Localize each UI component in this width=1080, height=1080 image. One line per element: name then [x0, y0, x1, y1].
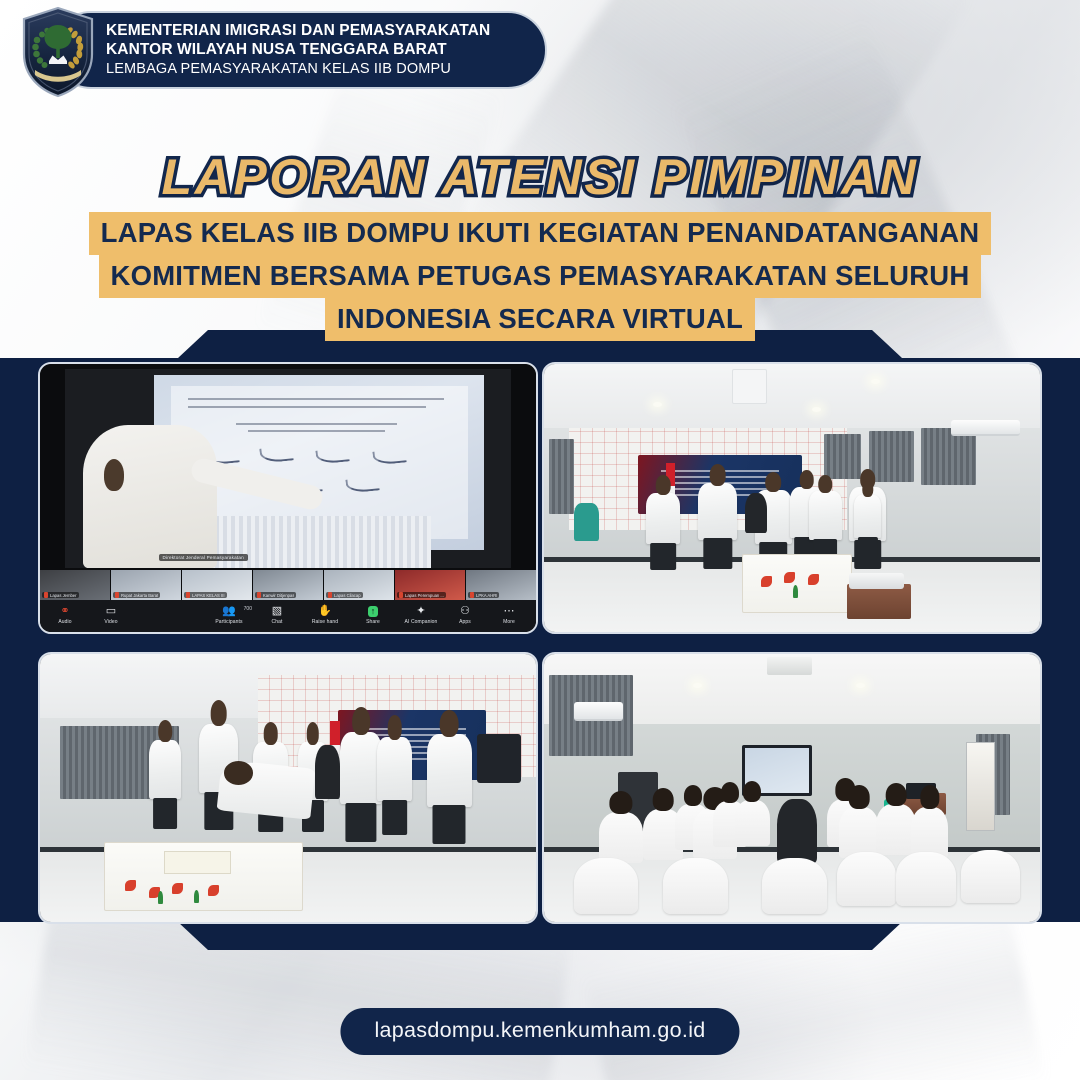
- covered-chair: [837, 852, 897, 906]
- officer-figure: [427, 734, 472, 806]
- zoom-participants-button[interactable]: 👥 700 Participants: [212, 606, 246, 625]
- photo-gallery-grid: Direktorat Jenderal Pemasyarakatan Lapas…: [38, 362, 1042, 924]
- covered-chair: [574, 858, 638, 914]
- toolbar-label: More: [503, 619, 515, 625]
- zoom-ai-companion-button[interactable]: ✦ AI Companion: [404, 606, 438, 625]
- hall-scene: [544, 364, 1040, 632]
- covered-chair: [663, 858, 727, 914]
- header-banner: KEMENTERIAN IMIGRASI DAN PEMASYARAKATAN …: [52, 11, 547, 89]
- zoom-active-speaker-stage: Direktorat Jenderal Pemasyarakatan: [65, 369, 511, 567]
- toolbar-label: Video: [104, 619, 117, 625]
- more-dots-icon: ⋯: [504, 606, 515, 617]
- mic-icon: [257, 592, 261, 598]
- officer-figure: [377, 737, 412, 801]
- mic-icon: [399, 592, 403, 598]
- zoom-chat-button[interactable]: ▧ Chat: [260, 606, 294, 625]
- mic-icon: [44, 592, 48, 598]
- covered-chair: [896, 852, 956, 906]
- female-officer-hijab: [315, 745, 340, 799]
- poster-header: KEMENTERIAN IMIGRASI DAN PEMASYARAKATAN …: [0, 0, 1080, 104]
- zoom-more-button[interactable]: ⋯ More: [492, 606, 526, 625]
- photo-audience-projector[interactable]: [542, 652, 1042, 924]
- window-curtain: [869, 431, 914, 482]
- poster-main-title: LAPORAN ATENSI PIMPINAN: [0, 148, 1080, 206]
- camera-icon: ▭: [106, 606, 116, 617]
- apps-icon: ⚇: [460, 606, 470, 617]
- zoom-application-window: Direktorat Jenderal Pemasyarakatan Lapas…: [40, 364, 536, 632]
- raise-hand-icon: ✋: [318, 606, 332, 617]
- doorway: [966, 742, 996, 830]
- share-screen-icon: ↑: [368, 606, 379, 617]
- participant-count: 700: [244, 606, 252, 612]
- window-curtain: [549, 439, 574, 514]
- decorated-table: [742, 554, 851, 613]
- officer-figure: [698, 483, 738, 539]
- director-general-signing: [83, 425, 217, 568]
- mic-icon: [115, 592, 119, 598]
- air-conditioner: [951, 420, 1020, 436]
- female-officer-hijab: [745, 493, 767, 533]
- participant-name: Lapas Perempuan ...: [405, 593, 444, 598]
- ceiling-light: [812, 407, 821, 412]
- toolbar-label: Audio: [58, 619, 71, 625]
- officer-figure: [340, 732, 382, 804]
- photo-officers-standing[interactable]: [542, 362, 1042, 634]
- participant-name: LAPAS KELAS III: [192, 593, 225, 598]
- attendee-figure: [876, 804, 916, 855]
- mic-icon: [470, 592, 474, 598]
- ai-sparkle-icon: ✦: [416, 606, 425, 617]
- subtitle-line-2: KOMITMEN BERSAMA PETUGAS PEMASYARAKATAN …: [99, 255, 982, 298]
- photo-zoom-meeting[interactable]: Direktorat Jenderal Pemasyarakatan Lapas…: [38, 362, 538, 634]
- officer-figure: [646, 493, 681, 544]
- attendee-figure: [599, 812, 644, 863]
- attendee-figure: [839, 807, 879, 858]
- projector: [849, 573, 904, 589]
- attendee-figure: [911, 807, 948, 858]
- participant-name: LPKA AHRI: [476, 593, 497, 598]
- microphone-muted-icon: ⚭: [60, 606, 69, 617]
- participant-name: Kanwir Ditjenpas: [263, 593, 294, 598]
- ceiling-projector: [767, 657, 812, 676]
- attendee-figure: [735, 800, 770, 846]
- covered-chair: [762, 858, 826, 914]
- zoom-toolbar[interactable]: ⚭ Audio ▭ Video 👥 700 Participants ▧: [40, 600, 536, 632]
- website-url: lapasdompu.kemenkumham.go.id: [374, 1018, 705, 1042]
- mic-icon: [328, 592, 332, 598]
- poster-subtitle: LAPAS KELAS IIB DOMPU IKUTI KEGIATAN PEN…: [0, 212, 1080, 341]
- institution-name: LEMBAGA PEMASYARAKATAN KELAS IIB DOMPU: [106, 60, 490, 79]
- regional-office-name: KANTOR WILAYAH NUSA TENGGARA BARAT: [106, 40, 490, 59]
- decorated-signing-table: [104, 842, 302, 912]
- speaker-name-label: Direktorat Jenderal Pemasyarakatan: [159, 554, 248, 561]
- participant-thumbnail[interactable]: Lapas Jember: [40, 570, 110, 599]
- ministry-name: KEMENTERIAN IMIGRASI DAN PEMASYARAKATAN: [106, 21, 490, 40]
- covered-chair: [961, 850, 1021, 904]
- signing-scene: [40, 654, 536, 922]
- audience-scene: [544, 654, 1040, 922]
- female-attendee-hijab: [777, 799, 817, 863]
- zoom-participant-thumbnails[interactable]: Lapas Jember Rupat Jakarta Barat LAPAS K…: [40, 570, 536, 599]
- website-footer-pill[interactable]: lapasdompu.kemenkumham.go.id: [340, 1008, 739, 1055]
- participant-name: Lapas Cilacap: [334, 593, 361, 598]
- zoom-video-button[interactable]: ▭ Video: [94, 606, 128, 625]
- photo-signing-commitment[interactable]: [38, 652, 538, 924]
- chat-icon: ▧: [272, 606, 282, 617]
- ceiling-fixture: [732, 369, 767, 404]
- window-curtain: [824, 434, 861, 480]
- participant-thumbnail[interactable]: LPKA AHRI: [466, 570, 536, 599]
- zoom-apps-button[interactable]: ⚇ Apps: [448, 606, 482, 625]
- zoom-raise-hand-button[interactable]: ✋ Raise hand: [308, 606, 342, 625]
- participant-thumbnail[interactable]: Lapas Perempuan ...: [395, 570, 465, 599]
- participant-name: Rupat Jakarta Barat: [121, 593, 158, 598]
- ditjenpas-emblem-board: [477, 734, 522, 782]
- officer-figure: [809, 491, 841, 539]
- header-text-block: KEMENTERIAN IMIGRASI DAN PEMASYARAKATAN …: [106, 21, 490, 79]
- ceiling-light: [871, 379, 880, 384]
- staff-member-green: [574, 503, 599, 541]
- window-curtain: [921, 428, 976, 484]
- participant-name: Lapas Jember: [50, 593, 77, 598]
- toolbar-label: Raise hand: [312, 619, 338, 625]
- poster-canvas: KEMENTERIAN IMIGRASI DAN PEMASYARAKATAN …: [0, 0, 1080, 1080]
- officer-figure: [854, 495, 881, 538]
- toolbar-label: Share: [366, 619, 380, 625]
- air-conditioner: [574, 702, 624, 721]
- subtitle-line-3: INDONESIA SECARA VIRTUAL: [325, 298, 755, 341]
- toolbar-label: AI Companion: [405, 619, 438, 625]
- participants-icon: 👥: [222, 606, 236, 617]
- toolbar-label: Participants: [215, 619, 242, 625]
- ceiling-light: [653, 402, 662, 407]
- officer-figure: [149, 740, 181, 799]
- participant-thumbnail[interactable]: Rupat Jakarta Barat: [111, 570, 181, 599]
- signing-document: [164, 851, 231, 874]
- kemenimipas-shield-logo: [18, 6, 98, 98]
- participant-thumbnail[interactable]: Kanwir Ditjenpas: [253, 570, 323, 599]
- participant-thumbnail[interactable]: Lapas Cilacap: [324, 570, 394, 599]
- person-head: [104, 459, 124, 490]
- zoom-share-button[interactable]: ↑ Share: [356, 606, 390, 625]
- toolbar-label: Apps: [459, 619, 471, 625]
- subtitle-line-1: LAPAS KELAS IIB DOMPU IKUTI KEGIATAN PEN…: [89, 212, 992, 255]
- zoom-audio-button[interactable]: ⚭ Audio: [48, 606, 82, 625]
- toolbar-label: Chat: [272, 619, 283, 625]
- mic-icon: [186, 592, 190, 598]
- participant-thumbnail[interactable]: LAPAS KELAS III: [182, 570, 252, 599]
